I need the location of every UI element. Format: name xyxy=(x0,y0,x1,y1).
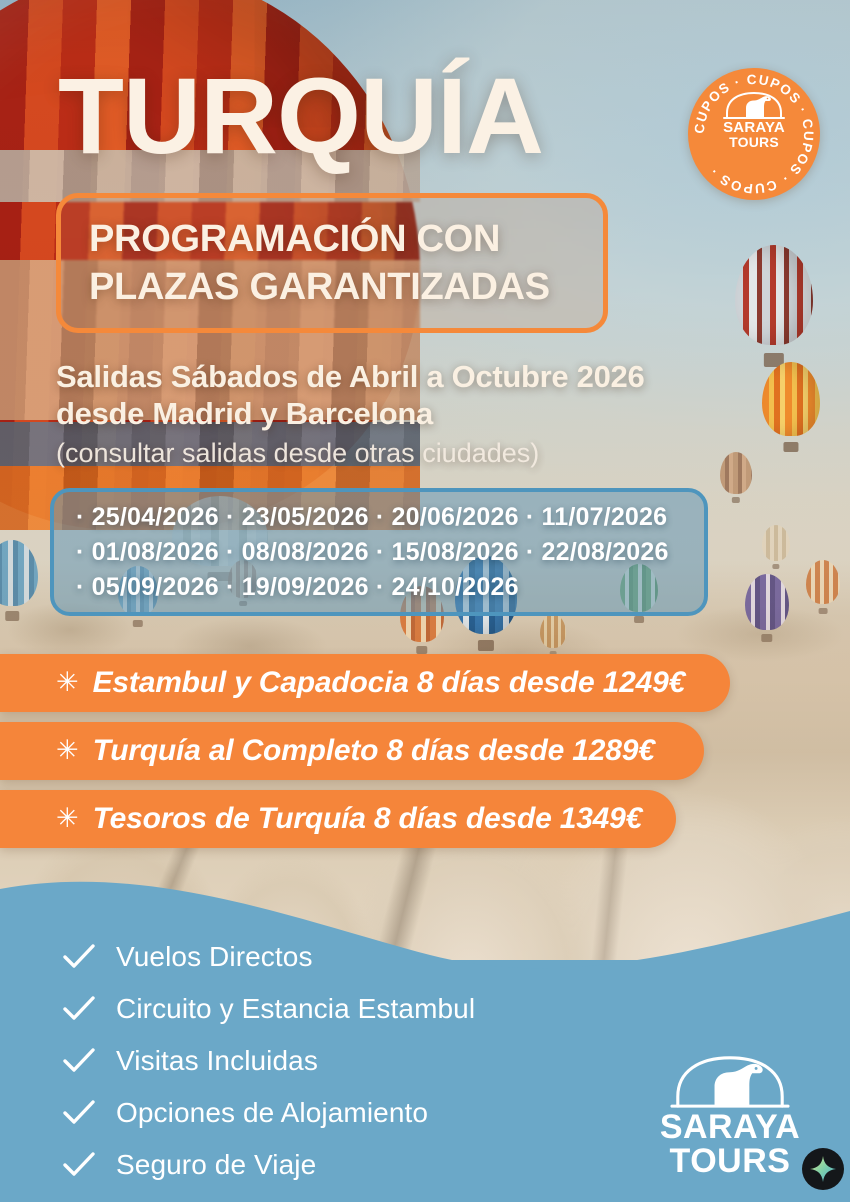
badge-brand-name: SARAYA TOURS xyxy=(688,120,820,150)
features-list: Vuelos Directos Circuito y Estancia Esta… xyxy=(62,935,475,1195)
dates-row: · 25/04/2026 · 23/05/2026 · 20/06/2026 ·… xyxy=(76,500,682,535)
cupos-badge: CUPOS · CUPOS · CUPOS · CUPOS · SARAYA T… xyxy=(688,68,820,200)
hot-air-balloon-small xyxy=(745,574,789,630)
feature-label: Circuito y Estancia Estambul xyxy=(116,994,475,1024)
hot-air-balloon-small xyxy=(762,525,790,561)
departures-note: (consultar salidas desde otras ciudades) xyxy=(56,436,796,470)
offer-text: Turquía al Completo 8 días desde 1289€ xyxy=(93,736,655,766)
hot-air-balloon-small xyxy=(540,614,566,648)
saraya-camel-arch-icon xyxy=(645,1052,815,1110)
poster-title: TURQUÍA xyxy=(58,62,543,170)
offer-text: Tesoros de Turquía 8 días desde 1349€ xyxy=(93,804,643,834)
departures-block: Salidas Sábados de Abril a Octubre 2026 … xyxy=(56,358,796,470)
feature-item: Seguro de Viaje xyxy=(62,1143,475,1186)
check-icon xyxy=(62,942,96,972)
feature-label: Opciones de Alojamiento xyxy=(116,1098,428,1128)
feature-label: Visitas Incluidas xyxy=(116,1046,318,1076)
check-icon xyxy=(62,1098,96,1128)
dates-box: · 25/04/2026 · 23/05/2026 · 20/06/2026 ·… xyxy=(50,488,708,616)
star-icon: ✳ xyxy=(56,805,79,832)
headline-box: PROGRAMACIÓN CON PLAZAS GARANTIZADAS xyxy=(56,193,608,333)
feature-item: Vuelos Directos xyxy=(62,935,475,978)
departures-line1: Salidas Sábados de Abril a Octubre 2026 xyxy=(56,358,796,395)
gemini-sparkle-icon xyxy=(802,1148,844,1190)
feature-item: Visitas Incluidas xyxy=(62,1039,475,1082)
dates-row: · 01/08/2026 · 08/08/2026 · 15/08/2026 ·… xyxy=(76,535,682,570)
travel-poster: TURQUÍA CUPOS · CUPOS · CUPOS · CUPOS · xyxy=(0,0,850,1202)
check-icon xyxy=(62,994,96,1024)
headline-line1: PROGRAMACIÓN CON xyxy=(89,215,575,263)
offer-bar[interactable]: ✳ Tesoros de Turquía 8 días desde 1349€ xyxy=(0,790,676,848)
offer-text: Estambul y Capadocia 8 días desde 1249€ xyxy=(93,668,685,698)
feature-item: Circuito y Estancia Estambul xyxy=(62,987,475,1030)
offer-bar[interactable]: ✳ Estambul y Capadocia 8 días desde 1249… xyxy=(0,654,730,712)
saraya-tours-logo: SARAYA TOURS xyxy=(645,1052,815,1178)
feature-label: Seguro de Viaje xyxy=(116,1150,316,1180)
departures-line2: desde Madrid y Barcelona xyxy=(56,395,796,432)
offer-bar[interactable]: ✳ Turquía al Completo 8 días desde 1289€ xyxy=(0,722,704,780)
badge-brand-line2: TOURS xyxy=(688,135,820,150)
check-icon xyxy=(62,1150,96,1180)
feature-item: Opciones de Alojamiento xyxy=(62,1091,475,1134)
star-icon: ✳ xyxy=(56,737,79,764)
feature-label: Vuelos Directos xyxy=(116,942,313,972)
badge-brand-line1: SARAYA xyxy=(688,120,820,135)
footer-logo-line2: TOURS xyxy=(645,1144,815,1178)
headline-line2: PLAZAS GARANTIZADAS xyxy=(89,263,575,311)
star-icon: ✳ xyxy=(56,669,79,696)
hot-air-balloon-small xyxy=(806,560,840,604)
check-icon xyxy=(62,1046,96,1076)
footer-logo-line1: SARAYA xyxy=(645,1110,815,1144)
dates-row: · 05/09/2026 · 19/09/2026 · 24/10/2026 xyxy=(76,570,682,605)
